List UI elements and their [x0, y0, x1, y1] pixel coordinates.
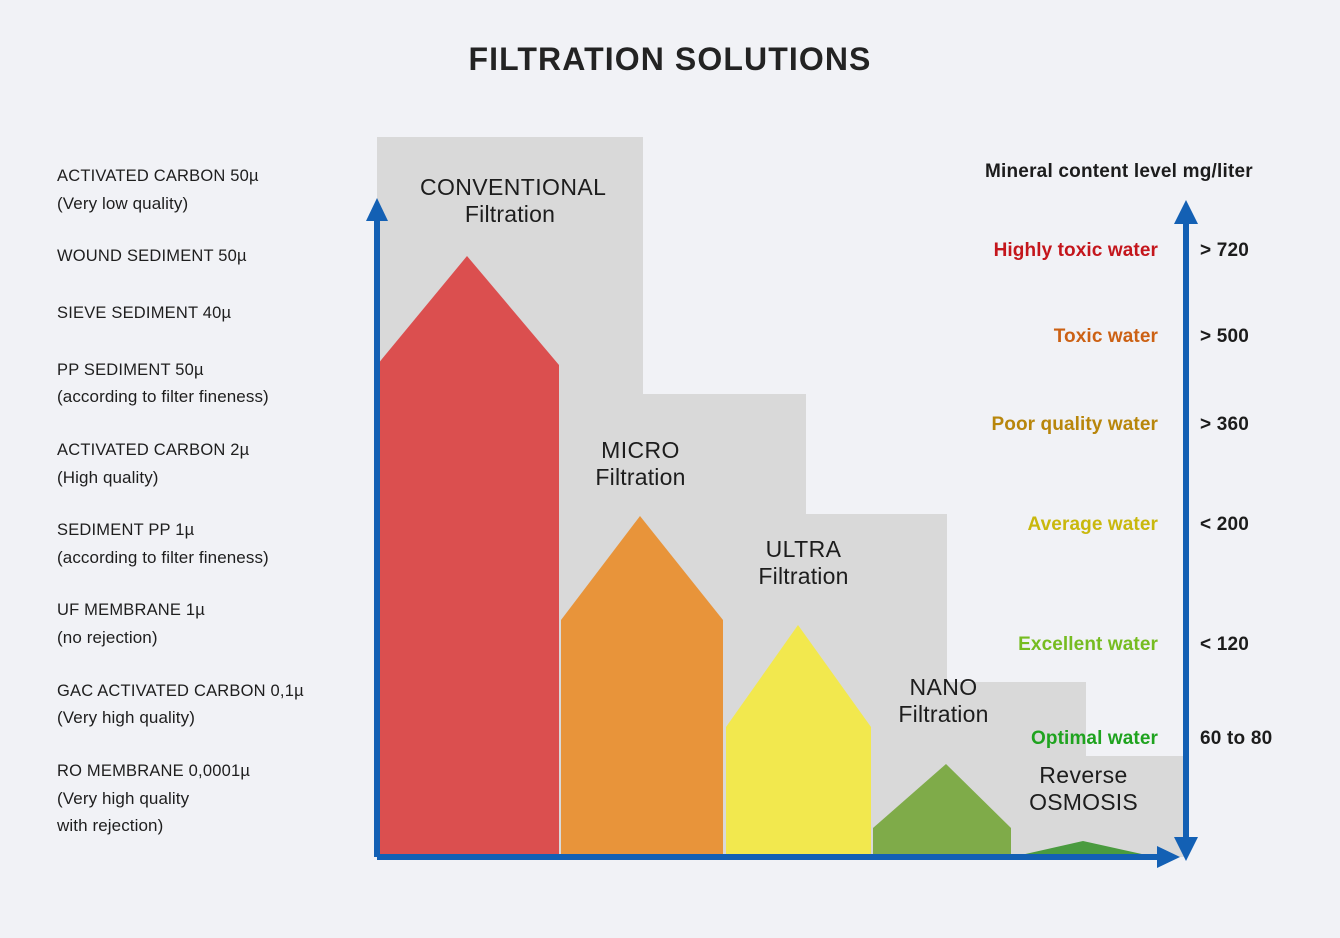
scale-value: 60 to 80: [1200, 728, 1272, 750]
scale-row: Optimal water 60 to 80: [930, 728, 1330, 754]
scale-value: > 720: [1200, 240, 1249, 262]
step-label-line2: Filtration: [855, 701, 1032, 728]
scale-quality-label: Poor quality water: [991, 414, 1158, 436]
scale-row: Excellent water < 120: [930, 634, 1330, 660]
step-label-line2: OSMOSIS: [995, 789, 1172, 816]
scale-row: Poor quality water > 360: [930, 414, 1330, 440]
scale-quality-label: Excellent water: [1018, 634, 1158, 656]
scale-value: > 500: [1200, 326, 1249, 348]
step-label-line2: Filtration: [420, 201, 600, 228]
step-label-line1: ULTRA: [715, 536, 892, 563]
scale-quality-label: Highly toxic water: [994, 240, 1158, 262]
step-label-line2: Filtration: [553, 464, 728, 491]
step-label-line1: MICRO: [553, 437, 728, 464]
step-label-conventional: CONVENTIONAL Filtration: [420, 174, 600, 228]
scale-value: < 200: [1200, 514, 1249, 536]
scale-row: Highly toxic water > 720: [930, 240, 1330, 266]
step-label-line1: NANO: [855, 674, 1032, 701]
shape-conventional: [377, 256, 559, 857]
step-label-reverse-osmosis: Reverse OSMOSIS: [995, 762, 1172, 816]
step-label-ultra: ULTRA Filtration: [715, 536, 892, 590]
step-label-line2: Filtration: [715, 563, 892, 590]
scale-quality-label: Optimal water: [1031, 728, 1158, 750]
scale-header: Mineral content level mg/liter: [985, 161, 1253, 183]
infographic-page: FILTRATION SOLUTIONS ACTIVATED CARBON 50…: [0, 0, 1340, 938]
scale-quality-label: Toxic water: [1054, 326, 1158, 348]
scale-row: Toxic water > 500: [930, 326, 1330, 352]
step-label-line1: Reverse: [995, 762, 1172, 789]
step-label-micro: MICRO Filtration: [553, 437, 728, 491]
scale-row: Average water < 200: [930, 514, 1330, 540]
scale-quality-label: Average water: [1028, 514, 1159, 536]
step-label-nano: NANO Filtration: [855, 674, 1032, 728]
scale-value: < 120: [1200, 634, 1249, 656]
scale-value: > 360: [1200, 414, 1249, 436]
step-label-line1: CONVENTIONAL: [420, 174, 600, 201]
